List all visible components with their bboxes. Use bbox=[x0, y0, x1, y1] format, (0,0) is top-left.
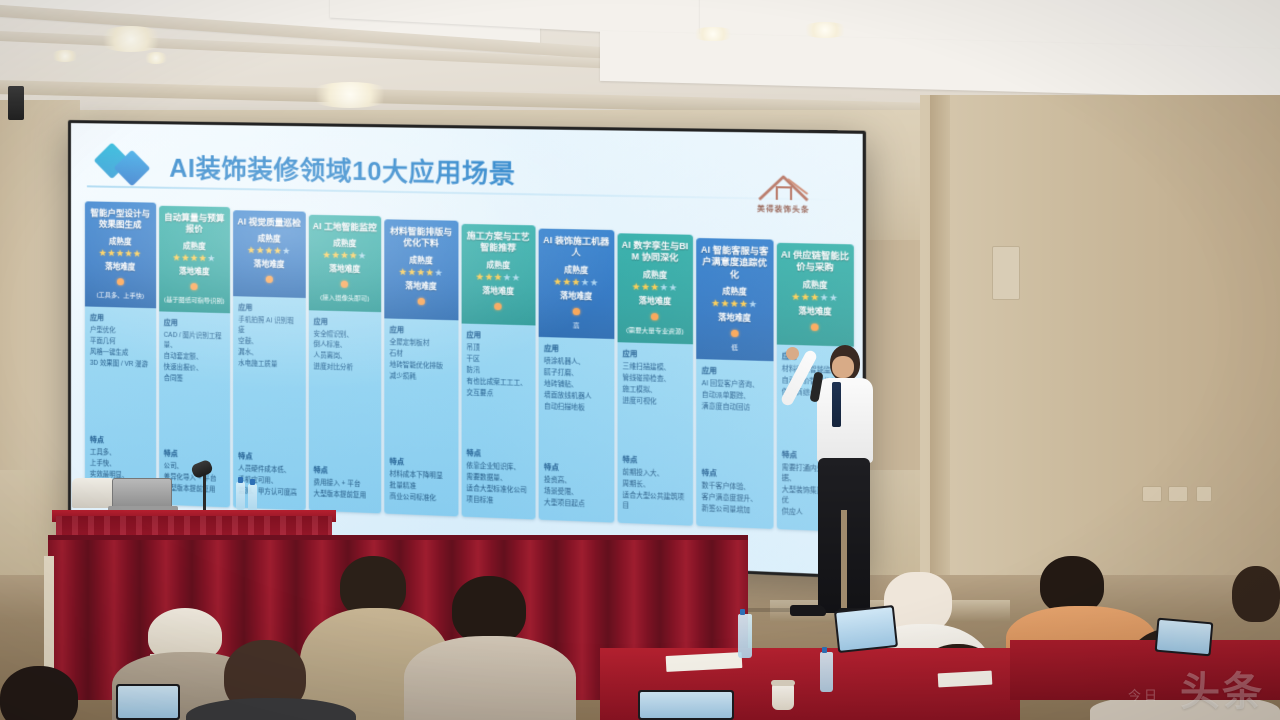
laptop-screen[interactable] bbox=[112, 478, 172, 508]
scenario-card-body: 应用三维扫描建模、管线碰撞检查、施工模拟、进度可视化特点前期投入大、周期长、适合… bbox=[617, 342, 693, 526]
maturity-label: 成熟度 bbox=[543, 264, 610, 277]
difficulty-label: 落地难度 bbox=[388, 280, 453, 293]
scenario-card: AI 工地智能监控成熟度★★★★★落地难度(接入摄像头即可)应用安全帽识别、倒人… bbox=[308, 215, 381, 514]
wall-outlet-plate[interactable] bbox=[1196, 486, 1212, 502]
difficulty-indicator-dot bbox=[811, 323, 819, 331]
list-item: 自动套定额、 bbox=[164, 352, 225, 364]
maturity-rating-stars: ★★★★★ bbox=[465, 272, 531, 283]
applications-label: 应用 bbox=[238, 303, 300, 315]
list-item: 空鼓、 bbox=[238, 337, 300, 349]
handout-papers[interactable] bbox=[938, 671, 993, 688]
applications-label: 应用 bbox=[544, 343, 609, 355]
maturity-rating-stars: ★★★★★ bbox=[543, 277, 610, 288]
list-item: 三维扫描建模、 bbox=[622, 362, 687, 374]
scenario-card-body: 应用AI 回复客户咨询、自动派单跟踪、满意度自动回访特点数千客户体验、客户满意度… bbox=[696, 359, 773, 528]
difficulty-label: 落地难度 bbox=[163, 265, 226, 278]
applications-label: 应用 bbox=[622, 349, 687, 361]
wall-panel bbox=[992, 246, 1020, 300]
features-list: 材料成本下降明显批量精准商业公司标准化 bbox=[390, 470, 453, 505]
scenario-card-body: 应用喷涂机器人、腻子打磨、地砖铺贴、墙面放线机器人自动扫描地板特点投资高、场景受… bbox=[539, 337, 614, 523]
presenter-tie bbox=[832, 382, 841, 427]
applications-list: CAD / 图片识别工程量、自动套定额、快速出报价、合同签 bbox=[164, 331, 225, 387]
list-item: 全屋定制板材 bbox=[390, 338, 453, 350]
wall-switch-plate[interactable] bbox=[1168, 486, 1188, 502]
presenter-shirt bbox=[817, 378, 873, 463]
paper-cup[interactable] bbox=[772, 684, 794, 710]
list-item: 施工模拟、 bbox=[622, 385, 687, 397]
maturity-label: 成熟度 bbox=[781, 278, 850, 291]
list-item: 安全帽识别、 bbox=[313, 329, 376, 341]
difficulty-indicator-dot bbox=[572, 308, 579, 315]
difficulty-indicator-dot bbox=[731, 330, 739, 338]
slide-title: AI装饰装修领域10大应用场景 bbox=[169, 149, 515, 191]
scenario-card-header: 智能户型设计与效果图生成成熟度★★★★★落地难度(工具多、上手快) bbox=[85, 201, 156, 308]
features-block: 特点数千客户体验、客户满意度提升、新签公司量增加 bbox=[702, 468, 768, 525]
water-bottle[interactable] bbox=[820, 652, 833, 692]
scenario-card: 智能户型设计与效果图生成成熟度★★★★★落地难度(工具多、上手快)应用户型优化平… bbox=[85, 201, 156, 504]
list-item: 快速出报价、 bbox=[164, 363, 225, 375]
maturity-rating-stars: ★★★★★ bbox=[621, 282, 688, 293]
maturity-label: 成熟度 bbox=[312, 238, 377, 251]
maturity-label: 成熟度 bbox=[237, 233, 301, 246]
list-item: 商业公司标准化 bbox=[390, 492, 453, 505]
difficulty-note: (基于图纸可指导识别) bbox=[163, 296, 226, 306]
difficulty-indicator-dot bbox=[117, 278, 124, 285]
ceiling-light bbox=[143, 52, 169, 64]
difficulty-label: 落地难度 bbox=[465, 285, 531, 298]
maturity-rating-stars: ★★★★★ bbox=[237, 246, 301, 257]
list-item: 平面几何 bbox=[90, 337, 151, 349]
scenario-card-header: 材料智能排版与优化下料成熟度★★★★★落地难度 bbox=[384, 219, 458, 320]
scenario-card: AI 装饰施工机器人成熟度★★★★★落地难度高应用喷涂机器人、腻子打磨、地砖铺贴… bbox=[539, 229, 614, 523]
scenario-card-header: AI 智能客服与客户满意度追踪优化成熟度★★★★★落地难度低 bbox=[696, 238, 773, 362]
maturity-label: 成熟度 bbox=[388, 254, 453, 267]
applications-list: AI 回复客户咨询、自动派单跟踪、满意度自动回访 bbox=[702, 379, 768, 415]
scenario-card-body: 应用户型优化平面几何风格一键生成3D 效果图 / VR 漫游特点工具多、上手快、… bbox=[85, 306, 156, 504]
applications-label: 应用 bbox=[466, 330, 530, 342]
list-item: 墙面放线机器人 bbox=[544, 391, 609, 403]
maturity-label: 成熟度 bbox=[701, 285, 769, 298]
difficulty-label: 落地难度 bbox=[621, 295, 688, 308]
scenario-card-header: AI 工地智能监控成熟度★★★★★落地难度(接入摄像头即可) bbox=[308, 215, 381, 312]
list-item: 户型优化 bbox=[90, 326, 151, 338]
list-item: 大型项目起点 bbox=[544, 498, 609, 511]
maturity-rating-stars: ★★★★★ bbox=[163, 253, 226, 264]
list-item: 管线碰撞检查、 bbox=[622, 373, 687, 385]
features-block: 特点前期投入大、周期长、适合大型公共建筑项目 bbox=[622, 455, 687, 522]
ceiling-light bbox=[96, 26, 166, 52]
scenario-card-header: AI 装饰施工机器人成熟度★★★★★落地难度高 bbox=[539, 229, 614, 339]
features-label: 特点 bbox=[313, 465, 376, 477]
scenario-card: AI 数字孪生与BIM 协同深化成熟度★★★★★落地难度(需要大量专业资源)应用… bbox=[617, 233, 693, 526]
list-item: 地砖智能优化排版 bbox=[390, 360, 453, 372]
diamond-logo-icon bbox=[99, 145, 155, 186]
scenario-card-title: AI 供应链智能比价与采购 bbox=[781, 249, 850, 275]
list-item: 石材 bbox=[390, 349, 453, 361]
difficulty-label: 落地难度 bbox=[781, 305, 850, 318]
list-item: 腻子打磨、 bbox=[544, 368, 609, 380]
difficulty-indicator-dot bbox=[651, 313, 659, 320]
slide-header: AI装饰装修领域10大应用场景 bbox=[93, 139, 847, 205]
maturity-rating-stars: ★★★★★ bbox=[701, 299, 769, 310]
list-item: 适合大型公共建筑项目 bbox=[622, 491, 687, 514]
features-label: 特点 bbox=[164, 449, 225, 461]
list-item: 进度可视化 bbox=[622, 396, 687, 408]
laptop-device[interactable] bbox=[116, 684, 180, 720]
projector-device bbox=[72, 478, 116, 508]
list-item: 倒人标准、 bbox=[313, 340, 376, 352]
difficulty-label: 落地难度 bbox=[543, 289, 610, 302]
scenario-card-header: AI 数字孪生与BIM 协同深化成熟度★★★★★落地难度(需要大量专业资源) bbox=[617, 233, 693, 344]
scenario-card: 材料智能排版与优化下料成熟度★★★★★落地难度应用全屋定制板材石材地砖智能优化排… bbox=[384, 219, 458, 516]
scenario-card-title: AI 装饰施工机器人 bbox=[543, 235, 610, 260]
scenario-card-header: AI 视觉质量巡检成熟度★★★★★落地难度 bbox=[233, 210, 305, 298]
features-label: 特点 bbox=[466, 448, 530, 461]
scenario-card-title: AI 视觉质量巡检 bbox=[237, 216, 301, 229]
difficulty-indicator-dot bbox=[494, 303, 501, 310]
list-item: 大型版本提前复用 bbox=[313, 489, 376, 502]
difficulty-indicator-dot bbox=[265, 276, 272, 283]
scenario-card-header: 自动算量与预算报价成熟度★★★★★落地难度(基于图纸可指导识别) bbox=[159, 206, 230, 314]
applications-list: 喷涂机器人、腻子打磨、地砖铺贴、墙面放线机器人自动扫描地板 bbox=[544, 357, 609, 415]
scenario-card-row: 智能户型设计与效果图生成成熟度★★★★★落地难度(工具多、上手快)应用户型优化平… bbox=[85, 201, 854, 562]
features-label: 特点 bbox=[544, 462, 609, 475]
list-item: 大型版本提前复用 bbox=[164, 484, 225, 496]
scenario-card-title: 施工方案与工艺智能推荐 bbox=[465, 230, 531, 255]
scenario-card: 施工方案与工艺智能推荐成熟度★★★★★落地难度应用吊顶干区防汛有也比成案工工工、… bbox=[461, 224, 535, 520]
presenter-shoe bbox=[790, 605, 826, 616]
list-item: 防汛 bbox=[466, 366, 530, 378]
right-wall bbox=[920, 95, 1280, 615]
wall-switch-plate[interactable] bbox=[1142, 486, 1162, 502]
applications-label: 应用 bbox=[702, 366, 768, 378]
list-item: 合同签 bbox=[164, 374, 225, 386]
tablet-device[interactable] bbox=[834, 605, 898, 653]
list-item: 自动扫描地板 bbox=[544, 402, 609, 414]
scenario-card-title: 材料智能排版与优化下料 bbox=[388, 225, 453, 250]
list-item: 地砖铺贴、 bbox=[544, 379, 609, 391]
features-list: 数千客户体验、客户满意度提升、新签公司量增加 bbox=[702, 481, 768, 517]
scenario-card: 自动算量与预算报价成熟度★★★★★落地难度(基于图纸可指导识别)应用CAD / … bbox=[159, 206, 230, 508]
applications-list: 户型优化平面几何风格一键生成3D 效果图 / VR 漫游 bbox=[90, 326, 151, 372]
list-item: 满意度自动回访 bbox=[702, 402, 768, 414]
features-list: 前期投入大、周期长、适合大型公共建筑项目 bbox=[622, 468, 687, 514]
house-roof-icon bbox=[755, 172, 812, 202]
difficulty-label: 落地难度 bbox=[237, 258, 301, 271]
list-item: 3D 效果图 / VR 漫游 bbox=[90, 358, 151, 370]
water-bottle[interactable] bbox=[236, 482, 245, 510]
conference-room-scene: AI装饰装修领域10大应用场景 美得装饰头条 智能户型设计与效果图生成成熟度★★… bbox=[0, 0, 1280, 720]
difficulty-label: 落地难度 bbox=[89, 260, 152, 273]
list-item: 自动派单跟踪、 bbox=[702, 391, 768, 403]
scenario-card-title: 智能户型设计与效果图生成 bbox=[89, 207, 152, 231]
difficulty-indicator-dot bbox=[417, 298, 424, 305]
maturity-label: 成熟度 bbox=[621, 269, 688, 282]
list-item: 减少损耗 bbox=[390, 371, 453, 383]
features-label: 特点 bbox=[622, 455, 687, 468]
tablet-device[interactable] bbox=[1155, 618, 1214, 657]
presenter-hand bbox=[786, 347, 799, 360]
list-item: 吊顶 bbox=[466, 343, 530, 355]
features-label: 特点 bbox=[90, 435, 151, 447]
scenario-card: AI 智能客服与客户满意度追踪优化成熟度★★★★★落地难度低应用AI 回复客户咨… bbox=[696, 238, 773, 529]
water-bottle[interactable] bbox=[738, 614, 752, 658]
applications-label: 应用 bbox=[390, 325, 453, 337]
applications-list: 手机拍照 AI 识别瑕疵空鼓、漏水、水电施工质量 bbox=[238, 316, 300, 372]
ceiling-light bbox=[50, 50, 80, 62]
slide-surface: AI装饰装修领域10大应用场景 美得装饰头条 智能户型设计与效果图生成成熟度★★… bbox=[71, 123, 863, 576]
list-item: 漏水、 bbox=[238, 348, 300, 360]
features-list: 投资高、场景受限、大型项目起点 bbox=[544, 476, 609, 511]
difficulty-note: 低 bbox=[701, 344, 769, 354]
list-item: 交互要点 bbox=[466, 388, 530, 400]
features-label: 特点 bbox=[238, 451, 300, 463]
difficulty-label: 落地难度 bbox=[312, 263, 377, 276]
features-block: 特点投资高、场景受限、大型项目起点 bbox=[544, 462, 609, 518]
scenario-card-title: AI 工地智能监控 bbox=[312, 221, 377, 234]
applications-label: 应用 bbox=[313, 316, 376, 328]
applications-list: 全屋定制板材石材地砖智能优化排版减少损耗 bbox=[390, 338, 453, 385]
list-item: 新签公司量增加 bbox=[702, 504, 768, 517]
difficulty-note: (需要大量专业资源) bbox=[621, 327, 688, 337]
water-bottle[interactable] bbox=[248, 484, 257, 512]
applications-label: 应用 bbox=[90, 313, 151, 325]
list-item: 手机拍照 AI 识别瑕疵 bbox=[238, 316, 300, 338]
scenario-card-title: AI 智能客服与客户满意度追踪优化 bbox=[701, 244, 769, 281]
list-item: CAD / 图片识别工程量、 bbox=[164, 331, 225, 353]
list-item: 喷涂机器人、 bbox=[544, 357, 609, 369]
difficulty-note: (接入摄像头即可) bbox=[312, 295, 377, 305]
maturity-rating-stars: ★★★★★ bbox=[388, 267, 453, 278]
scenario-card-title: 自动算量与预算报价 bbox=[163, 212, 226, 236]
applications-label: 应用 bbox=[164, 318, 225, 330]
scenario-card-body: 应用手机拍照 AI 识别瑕疵空鼓、漏水、水电施工质量特点人员硬件成本低、手机应可… bbox=[233, 297, 305, 511]
presenter-face bbox=[832, 356, 854, 378]
list-item: 有也比成案工工工、 bbox=[466, 377, 530, 389]
list-item: 项目标准 bbox=[466, 495, 530, 508]
wall-column bbox=[930, 95, 950, 615]
features-block: 特点费用接入 + 平台大型版本提前复用 bbox=[313, 465, 376, 509]
laptop-device[interactable] bbox=[638, 690, 734, 720]
features-label: 特点 bbox=[702, 468, 768, 481]
scenario-card: AI 视觉质量巡检成熟度★★★★★落地难度应用手机拍照 AI 识别瑕疵空鼓、漏水… bbox=[233, 210, 305, 510]
difficulty-label: 落地难度 bbox=[701, 312, 769, 325]
maturity-rating-stars: ★★★★★ bbox=[312, 251, 377, 262]
list-item: 水电施工质量 bbox=[238, 359, 300, 371]
applications-list: 安全帽识别、倒人标准、人员离岗、进度对比分析 bbox=[313, 329, 376, 375]
ceiling-light bbox=[690, 27, 736, 41]
scenario-card-body: 应用全屋定制板材石材地砖智能优化排版减少损耗特点材料成本下降明显批量精准商业公司… bbox=[384, 318, 458, 516]
ceiling-light bbox=[800, 22, 850, 38]
microphone-stand bbox=[203, 472, 206, 510]
scenario-card-header: AI 供应链智能比价与采购成熟度★★★★★落地难度 bbox=[776, 243, 854, 347]
maturity-rating-stars: ★★★★★ bbox=[781, 292, 850, 303]
difficulty-note: 高 bbox=[543, 321, 610, 331]
list-item: AI 回复客户咨询、 bbox=[702, 379, 768, 391]
difficulty-indicator-dot bbox=[191, 283, 198, 290]
features-list: 费用接入 + 平台大型版本提前复用 bbox=[313, 478, 376, 502]
applications-list: 三维扫描建模、管线碰撞检查、施工模拟、进度可视化 bbox=[622, 362, 687, 409]
features-list: 依靠企业知识库、需要数据量、适合大型标准化公司项目标准 bbox=[466, 462, 530, 508]
features-block: 特点材料成本下降明显批量精准商业公司标准化 bbox=[390, 457, 453, 512]
scenario-card-body: 应用吊顶干区防汛有也比成案工工工、交互要点特点依靠企业知识库、需要数据量、适合大… bbox=[461, 323, 535, 519]
maturity-label: 成熟度 bbox=[89, 235, 152, 247]
list-item: 进度对比分析 bbox=[313, 363, 376, 375]
difficulty-note: (工具多、上手快) bbox=[89, 291, 152, 301]
presenter-leg-gap bbox=[841, 510, 847, 610]
scenario-card-title: AI 数字孪生与BIM 协同深化 bbox=[621, 240, 688, 265]
scenario-card-body: 应用安全帽识别、倒人标准、人员离岗、进度对比分析特点费用接入 + 平台大型版本提… bbox=[308, 310, 381, 514]
list-item: 干区 bbox=[466, 354, 530, 366]
features-block: 特点依靠企业知识库、需要数据量、适合大型标准化公司项目标准 bbox=[466, 448, 530, 515]
scenario-card-header: 施工方案与工艺智能推荐成熟度★★★★★落地难度 bbox=[461, 224, 535, 326]
maturity-label: 成熟度 bbox=[163, 240, 226, 252]
list-item: 人员离岗、 bbox=[313, 351, 376, 363]
maturity-rating-stars: ★★★★★ bbox=[89, 248, 152, 258]
difficulty-indicator-dot bbox=[341, 281, 348, 288]
features-label: 特点 bbox=[390, 457, 453, 470]
maturity-label: 成熟度 bbox=[465, 259, 531, 272]
ceiling-light bbox=[306, 82, 394, 108]
audience-table bbox=[1010, 640, 1280, 700]
list-item: 风格一键生成 bbox=[90, 347, 151, 359]
ceiling-speaker bbox=[8, 86, 24, 120]
applications-list: 吊顶干区防汛有也比成案工工工、交互要点 bbox=[466, 343, 530, 401]
